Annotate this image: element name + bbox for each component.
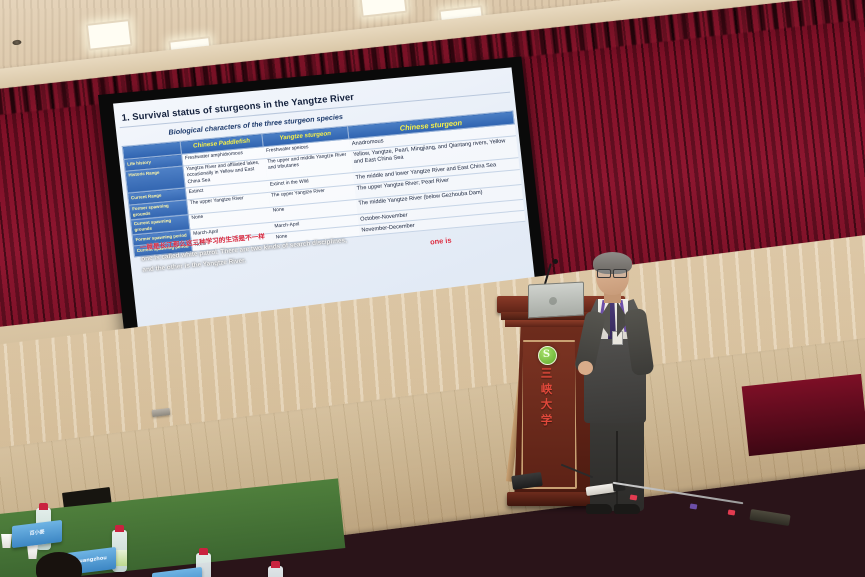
- cable-ramp-cover: [749, 509, 790, 526]
- university-char: 大: [541, 399, 553, 411]
- name-plate: Yangtze: [152, 567, 202, 577]
- university-name-vertical: 三 峡 大 学: [533, 368, 560, 426]
- auditorium-photo: 1. Survival status of sturgeons in the Y…: [0, 0, 865, 577]
- right-curtain-edge: [742, 374, 865, 456]
- university-logo-glyph: S: [538, 346, 555, 363]
- cable-tape-marker: [630, 494, 638, 500]
- bottle-cap: [271, 561, 280, 568]
- microphone-head-icon: [553, 259, 558, 264]
- speaker-shoe: [586, 504, 612, 514]
- university-char: 三: [541, 368, 553, 380]
- speaker-shoe: [614, 504, 640, 514]
- speaker-leg-split: [616, 431, 618, 511]
- university-char: 学: [541, 415, 553, 427]
- bottle-cap: [39, 503, 48, 510]
- university-char: 峡: [541, 384, 553, 396]
- ceiling-light-panel: [359, 0, 408, 18]
- bottle-cap: [199, 548, 208, 555]
- eyeglasses-icon: [597, 269, 627, 276]
- cable-tape-marker: [728, 509, 736, 515]
- caption-english-fragment: one is: [430, 229, 525, 247]
- audience-head-silhouette: [36, 552, 82, 577]
- ceiling-light-panel: [86, 19, 133, 51]
- cable-tape-marker: [690, 503, 698, 509]
- ceiling-spot-icon: [12, 39, 22, 45]
- bottle-cap: [115, 525, 124, 532]
